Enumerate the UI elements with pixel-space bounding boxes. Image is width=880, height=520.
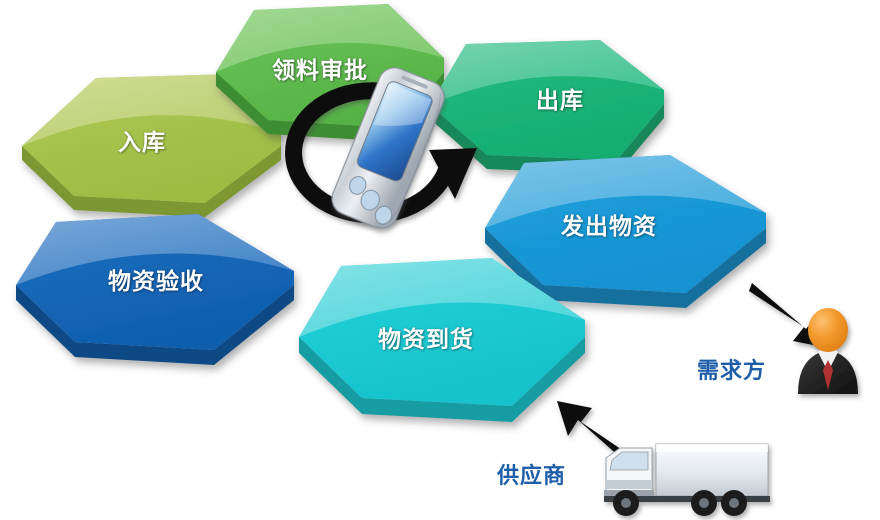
avatar-head — [808, 308, 848, 352]
businessperson-avatar-icon — [798, 308, 858, 394]
truck-hub-2 — [699, 498, 709, 508]
hexagon-wuzi-yanshou[interactable] — [16, 214, 294, 365]
actor-label-xuqiufang: 需求方 — [697, 353, 766, 385]
diagram-svg — [0, 0, 880, 520]
diagram-canvas: 入库 领料审批 出库 发出物资 物资验收 物资到货 需求方 供应商 — [0, 0, 880, 520]
truck-hub-1 — [621, 498, 631, 508]
actor-label-gongyingshang: 供应商 — [497, 458, 566, 490]
truck-hub-3 — [729, 498, 739, 508]
truck-grill — [606, 480, 652, 489]
delivery-truck-icon — [604, 444, 770, 516]
truck-box-top — [656, 444, 768, 452]
